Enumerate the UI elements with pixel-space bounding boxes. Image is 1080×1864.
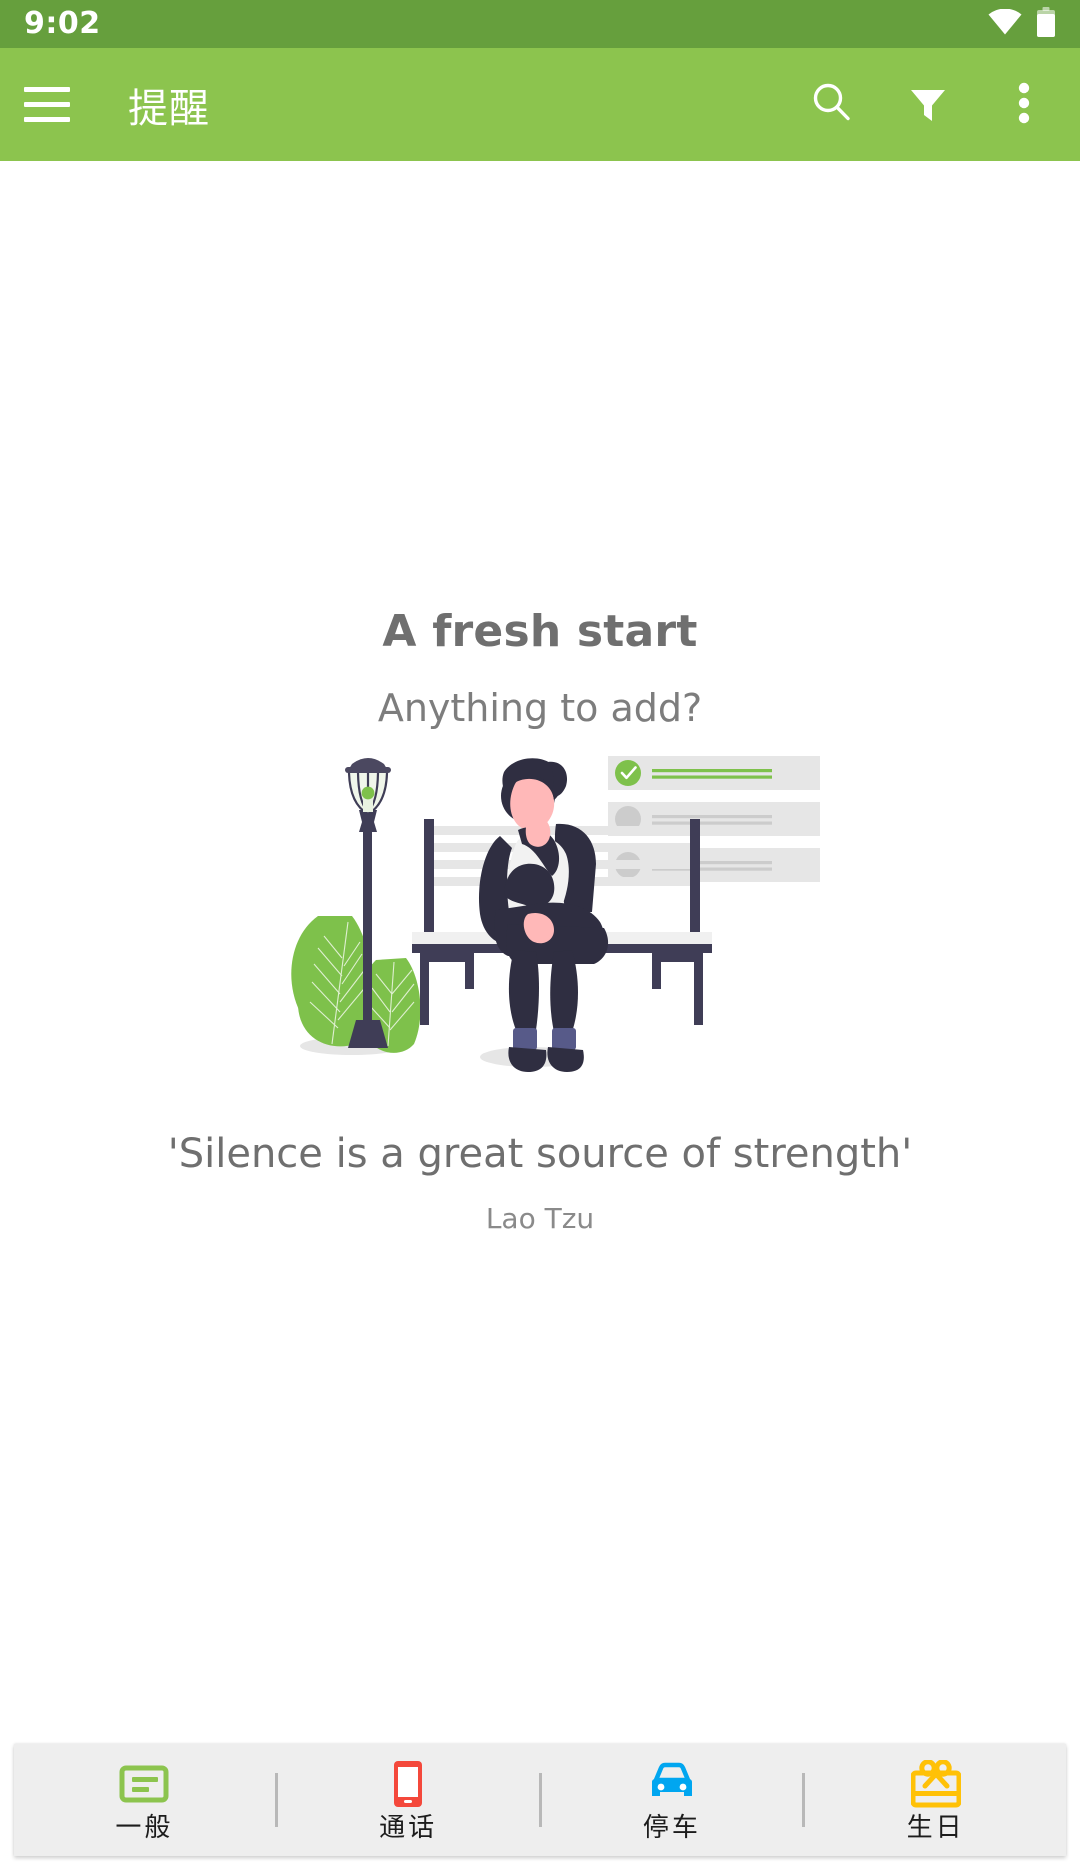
smartphone-icon (391, 1759, 425, 1809)
status-bar-clock: 9:02 (24, 9, 101, 39)
tab-label: 一般 (115, 1815, 173, 1841)
wifi-icon (988, 9, 1022, 39)
search-button[interactable] (802, 75, 862, 135)
tab-label: 生日 (907, 1815, 965, 1841)
page-title: 提醒 (128, 76, 210, 134)
tab-general[interactable]: 一般 (14, 1744, 275, 1856)
quote-text: 'Silence is a great source of strength' (168, 1133, 913, 1175)
hamburger-menu-icon[interactable] (24, 77, 80, 133)
more-options-button[interactable] (994, 75, 1054, 135)
search-icon (808, 79, 856, 131)
hamburger-bar (24, 87, 70, 92)
status-bar-icons (988, 7, 1056, 41)
tab-label: 通话 (379, 1815, 437, 1841)
tab-birthday[interactable]: 生日 (805, 1744, 1066, 1856)
app-bar: 提醒 (0, 48, 1080, 161)
app-bar-actions (802, 75, 1054, 135)
tab-label: 停车 (643, 1815, 701, 1841)
main-content: A fresh start Anything to add? (0, 161, 1080, 1864)
hamburger-bar (24, 117, 70, 122)
empty-state-title: A fresh start (382, 606, 697, 657)
filter-button[interactable] (898, 75, 958, 135)
empty-state-illustration (260, 744, 820, 1109)
filter-funnel-icon (905, 80, 951, 130)
empty-state-subtitle: Anything to add? (378, 686, 702, 730)
tab-parking[interactable]: 停车 (542, 1744, 803, 1856)
person-sitting (479, 758, 608, 1072)
status-bar: 9:02 (0, 0, 1080, 48)
battery-icon (1036, 7, 1056, 41)
note-lines-icon (119, 1759, 169, 1809)
hamburger-bar (24, 102, 70, 107)
car-icon (646, 1759, 698, 1809)
quote-author: Lao Tzu (486, 1202, 594, 1235)
tab-call[interactable]: 通话 (278, 1744, 539, 1856)
overflow-menu-icon (1017, 79, 1031, 131)
gift-icon (911, 1759, 961, 1809)
bottom-tab-bar: 一般 通话 停车 (14, 1744, 1066, 1856)
